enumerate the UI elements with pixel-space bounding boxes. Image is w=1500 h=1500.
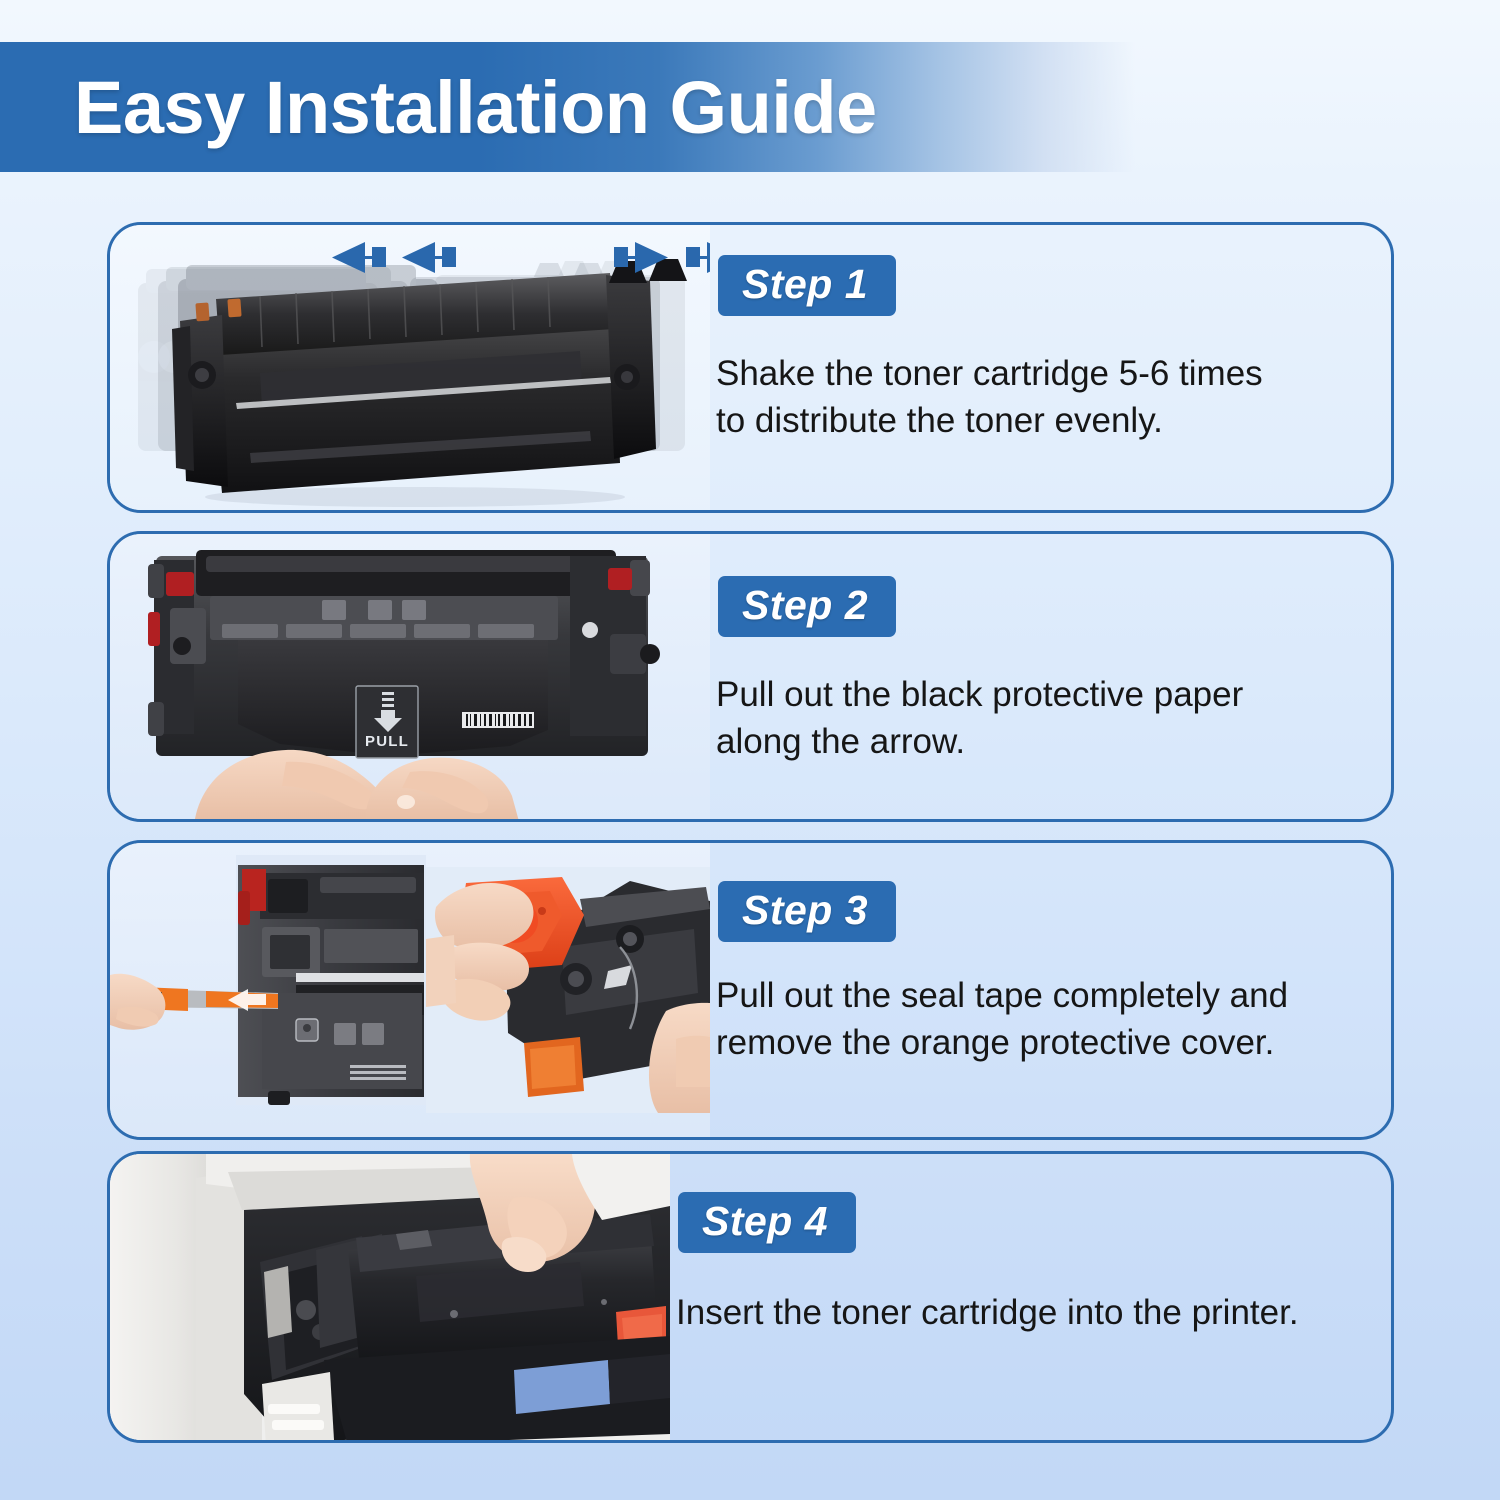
step-1-text: Shake the toner cartridge 5-6 times to d… (716, 351, 1296, 444)
step-2-body: Step 2 Pull out the black protective pap… (710, 534, 1391, 819)
pull-label: PULL (356, 686, 418, 758)
step-card-4: Step 4 Insert the toner cartridge into t… (107, 1151, 1394, 1443)
step-3-right-photo (426, 867, 710, 1113)
step-4-badge: Step 4 (678, 1192, 856, 1253)
step-card-3: Step 3 Pull out the seal tape completely… (107, 840, 1394, 1140)
step-1-badge: Step 1 (718, 255, 896, 316)
step-2-text: Pull out the black protective paper alon… (716, 672, 1276, 765)
step-1-image (110, 225, 710, 510)
step-card-1: Step 1 Shake the toner cartridge 5-6 tim… (107, 222, 1394, 513)
step-4-text: Insert the toner cartridge into the prin… (676, 1290, 1306, 1337)
step-3-image (110, 843, 710, 1137)
header-banner: Easy Installation Guide (0, 42, 1135, 172)
step-3-body: Step 3 Pull out the seal tape completely… (710, 843, 1391, 1137)
step-card-2: PULL (107, 531, 1394, 822)
step-1-body: Step 1 Shake the toner cartridge 5-6 tim… (710, 225, 1391, 510)
svg-text:PULL: PULL (365, 733, 409, 750)
step-4-body: Step 4 Insert the toner cartridge into t… (670, 1154, 1391, 1440)
step-3-text: Pull out the seal tape completely and re… (716, 973, 1356, 1066)
step-3-badge: Step 3 (718, 881, 896, 942)
step-2-image: PULL (110, 534, 710, 819)
step-2-badge: Step 2 (718, 576, 896, 637)
step-4-image (110, 1154, 670, 1440)
page-title: Easy Installation Guide (0, 65, 877, 150)
